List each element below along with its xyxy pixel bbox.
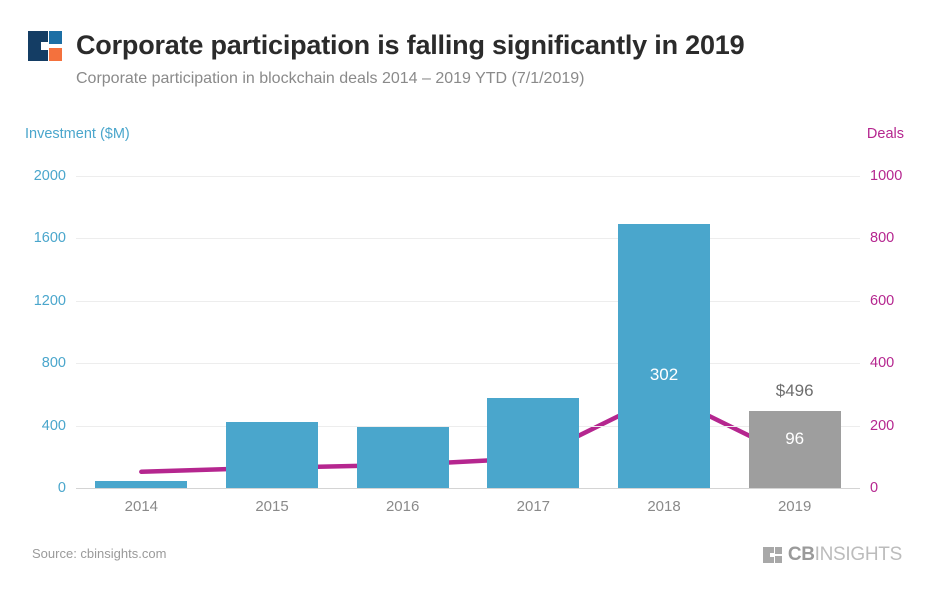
bar-value-label-2019: $496 bbox=[776, 381, 814, 401]
chart-page: Corporate participation is falling signi… bbox=[0, 0, 932, 610]
right-axis-tick-label: 400 bbox=[870, 356, 894, 371]
right-axis-tick-label: 800 bbox=[870, 231, 894, 246]
gridline bbox=[76, 363, 860, 364]
bar-2017[interactable] bbox=[487, 398, 579, 488]
deals-value-label-2018: 302 bbox=[650, 365, 678, 385]
brand-wordmark-light: INSIGHTS bbox=[815, 544, 902, 565]
deals-value-label-2019: 96 bbox=[785, 429, 804, 449]
gridline bbox=[76, 238, 860, 239]
x-axis-label-2015: 2015 bbox=[255, 498, 288, 515]
x-axis-label-2017: 2017 bbox=[517, 498, 550, 515]
gridline bbox=[76, 176, 860, 177]
left-axis-tick-label: 400 bbox=[42, 418, 66, 433]
brand-wordmark: CBINSIGHTS bbox=[788, 544, 902, 566]
bar-2018[interactable] bbox=[618, 224, 710, 488]
gridline bbox=[76, 426, 860, 427]
cbinsights-logo-icon bbox=[28, 31, 62, 61]
brand-wordmark-bold: CB bbox=[788, 544, 815, 565]
right-axis-tick-label: 200 bbox=[870, 418, 894, 433]
page-title: Corporate participation is falling signi… bbox=[76, 30, 744, 61]
left-axis-tick-label: 0 bbox=[58, 481, 66, 496]
footer-brand: CBINSIGHTS bbox=[763, 544, 902, 566]
x-axis-label-2016: 2016 bbox=[386, 498, 419, 515]
title-row: Corporate participation is falling signi… bbox=[28, 30, 904, 61]
gridline bbox=[76, 488, 860, 489]
gridline bbox=[76, 301, 860, 302]
bar-2014[interactable] bbox=[95, 481, 187, 488]
right-axis-tick-label: 0 bbox=[870, 481, 878, 496]
plot-area: 0040020080040012006001600800200010002014… bbox=[76, 176, 860, 488]
right-axis-title: Deals bbox=[867, 126, 904, 142]
left-axis-tick-label: 1600 bbox=[34, 231, 66, 246]
left-axis-tick-label: 1200 bbox=[34, 294, 66, 309]
bar-2015[interactable] bbox=[226, 422, 318, 488]
right-axis-tick-label: 600 bbox=[870, 294, 894, 309]
x-axis-label-2018: 2018 bbox=[647, 498, 680, 515]
chart-header: Corporate participation is falling signi… bbox=[28, 30, 904, 120]
source-note: Source: cbinsights.com bbox=[32, 546, 166, 561]
left-axis-tick-label: 800 bbox=[42, 356, 66, 371]
right-axis-tick-label: 1000 bbox=[870, 169, 902, 184]
x-axis-label-2014: 2014 bbox=[125, 498, 158, 515]
left-axis-title: Investment ($M) bbox=[25, 126, 130, 142]
left-axis-tick-label: 2000 bbox=[34, 169, 66, 184]
bar-2016[interactable] bbox=[357, 427, 449, 488]
x-axis-label-2019: 2019 bbox=[778, 498, 811, 515]
deals-line-series bbox=[76, 176, 860, 488]
cbinsights-mark-icon bbox=[763, 547, 782, 563]
page-subtitle: Corporate participation in blockchain de… bbox=[76, 70, 904, 88]
bar-2019[interactable] bbox=[749, 411, 841, 488]
